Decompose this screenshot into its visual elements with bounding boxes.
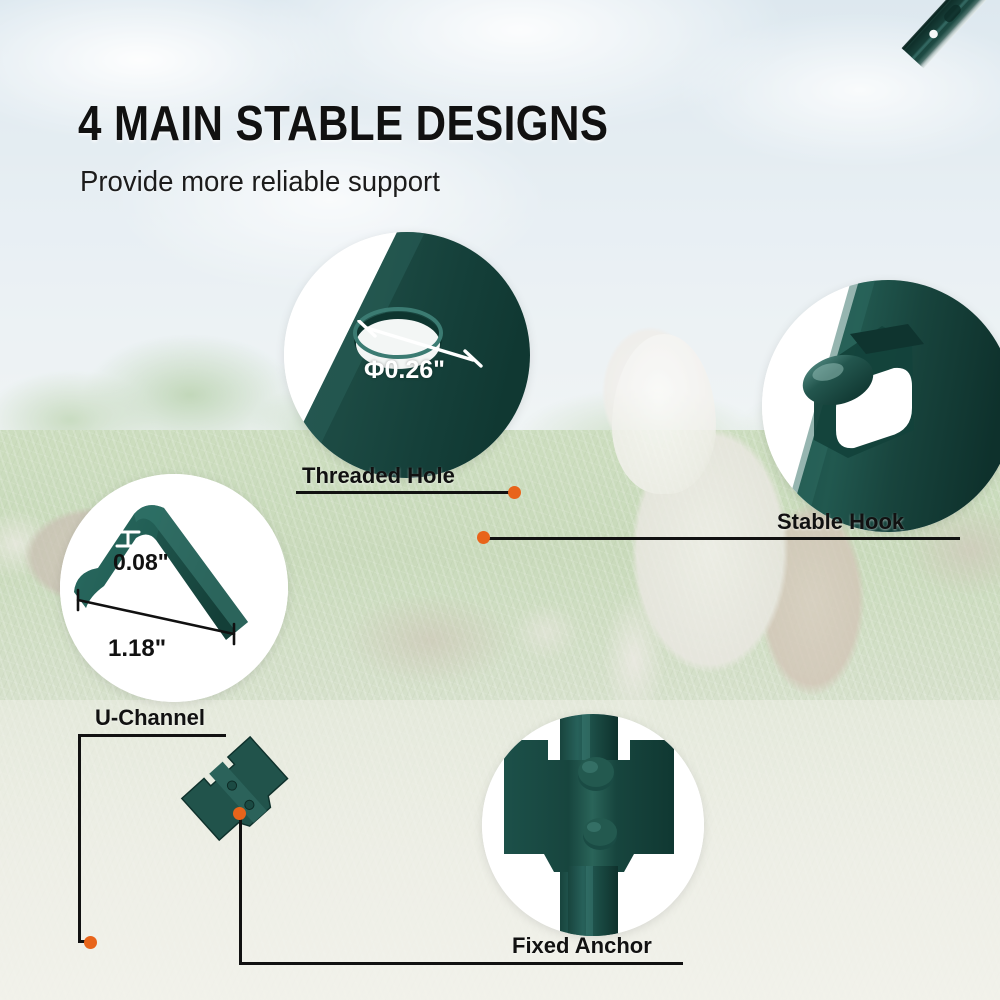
stable-hook-closeup — [762, 280, 1000, 532]
marker-dot-threaded-hole — [508, 486, 521, 499]
leader-line-fixed-anchor-horizontal — [239, 962, 683, 965]
u-channel-profile-closeup — [60, 474, 288, 702]
leader-line-stable-hook — [484, 537, 960, 540]
callout-label-u-channel: U-Channel — [95, 705, 205, 731]
leader-line-u-channel-horizontal — [78, 734, 226, 737]
leader-line-u-channel-vertical — [78, 734, 81, 942]
fixed-anchor-closeup — [482, 714, 704, 936]
leader-line-fixed-anchor-vertical — [239, 818, 242, 964]
marker-dot-fixed-anchor — [233, 807, 246, 820]
marker-dot-u-channel — [84, 936, 97, 949]
callout-label-stable-hook: Stable Hook — [777, 509, 904, 535]
callout-label-fixed-anchor: Fixed Anchor — [512, 933, 652, 959]
product-infographic: 4 MAIN STABLE DESIGNS Provide more relia… — [0, 0, 1000, 1000]
u-channel-thickness-value: 0.08" — [113, 549, 169, 576]
threaded-hole-diameter-value: Φ0.26" — [364, 356, 445, 385]
u-channel-width-value: 1.18" — [108, 635, 166, 663]
leader-line-threaded-hole — [296, 491, 511, 494]
callout-bubble-u-channel — [60, 474, 288, 702]
callout-bubble-stable-hook — [762, 280, 1000, 532]
marker-dot-stable-hook — [477, 531, 490, 544]
callout-bubble-fixed-anchor — [482, 714, 704, 936]
callout-label-threaded-hole: Threaded Hole — [302, 463, 455, 489]
anchor-plate-on-post — [182, 737, 295, 848]
